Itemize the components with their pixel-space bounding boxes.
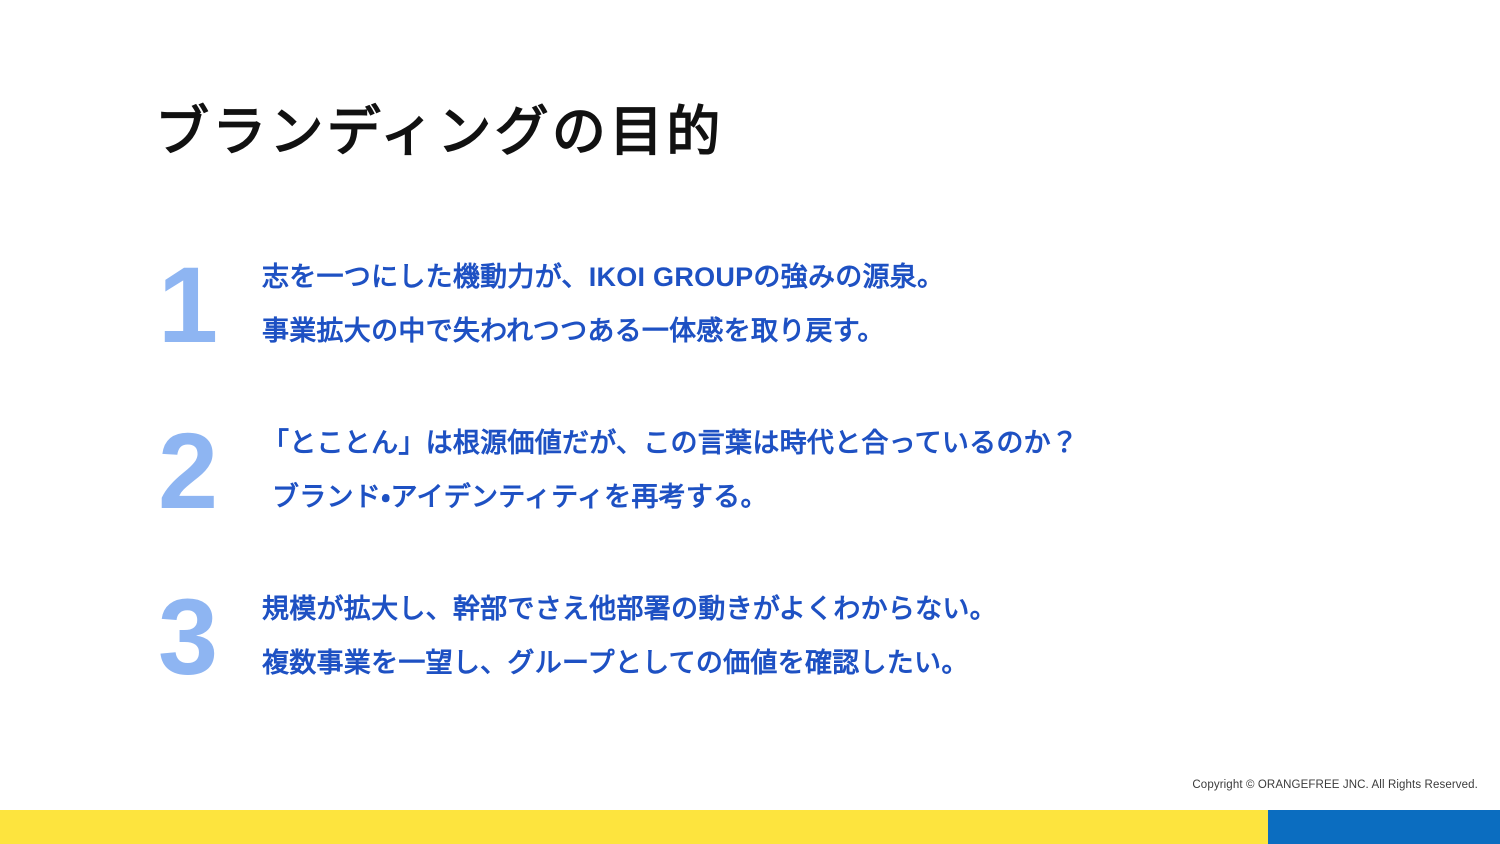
point-text-1: 志を一つにした機動力が、IKOI GROUPの強みの源泉。 事業拡大の中で失われ… — [262, 252, 1350, 345]
point-line: 事業拡大の中で失われつつある一体感を取り戻す。 — [262, 318, 1350, 345]
footer-bar-blue — [1268, 810, 1500, 844]
list-item: 2 「とことん」は根源価値だが、この言葉は時代と合っているのか？ ブランド・アイ… — [150, 418, 1350, 524]
copyright-notice: Copyright © ORANGEFREE JNC. All Rights R… — [1192, 779, 1478, 791]
point-line: 複数事業を一望し、グループとしての価値を確認したい。 — [262, 650, 1350, 677]
point-number-3: 3 — [150, 584, 262, 690]
point-number-2: 2 — [150, 418, 262, 524]
point-number-1: 1 — [150, 252, 262, 358]
point-text-3: 規模が拡大し、幹部でさえ他部署の動きがよくわからない。 複数事業を一望し、グルー… — [262, 584, 1350, 677]
point-line: ブランド・アイデンティティを再考する。 — [262, 484, 1350, 511]
footer-bar-yellow — [0, 810, 1268, 844]
point-line: 「とことん」は根源価値だが、この言葉は時代と合っているのか？ — [262, 430, 1350, 457]
point-line: 規模が拡大し、幹部でさえ他部署の動きがよくわからない。 — [262, 596, 1350, 623]
list-item: 1 志を一つにした機動力が、IKOI GROUPの強みの源泉。 事業拡大の中で失… — [150, 252, 1350, 358]
point-text-2: 「とことん」は根源価値だが、この言葉は時代と合っているのか？ ブランド・アイデン… — [262, 418, 1350, 511]
footer-accent-bar — [0, 810, 1500, 844]
point-line: 志を一つにした機動力が、IKOI GROUPの強みの源泉。 — [262, 264, 1350, 291]
slide-canvas: ブランディングの目的 1 志を一つにした機動力が、IKOI GROUPの強みの源… — [0, 0, 1500, 844]
page-title: ブランディングの目的 — [155, 103, 724, 162]
list-item: 3 規模が拡大し、幹部でさえ他部署の動きがよくわからない。 複数事業を一望し、グ… — [150, 584, 1350, 690]
points-list: 1 志を一つにした機動力が、IKOI GROUPの強みの源泉。 事業拡大の中で失… — [150, 252, 1350, 689]
